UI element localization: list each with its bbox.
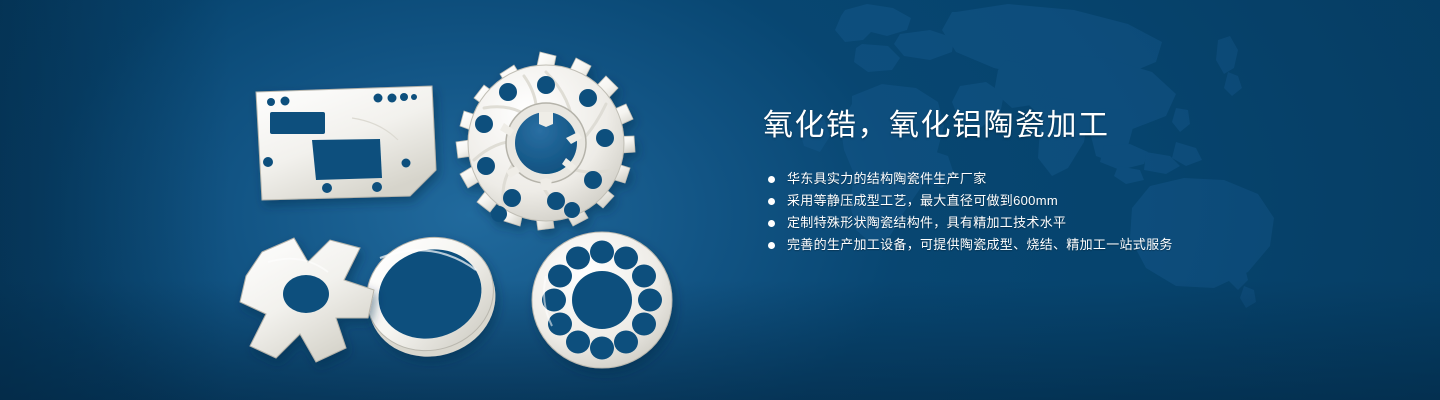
ceramic-cross-plate bbox=[240, 238, 374, 362]
ceramic-machined-plate bbox=[256, 86, 436, 200]
feature-text: 华东具实力的结构陶瓷件生产厂家 bbox=[787, 168, 987, 190]
list-item: 采用等静压成型工艺，最大直径可做到600mm bbox=[763, 190, 1383, 212]
ceramic-ring bbox=[353, 223, 509, 372]
feature-text: 完善的生产加工设备，可提供陶瓷成型、烧结、精加工一站式服务 bbox=[787, 234, 1173, 256]
ceramic-product-banner: 氧化锆，氧化铝陶瓷加工 华东具实力的结构陶瓷件生产厂家 采用等静压成型工艺，最大… bbox=[0, 0, 1440, 400]
feature-list: 华东具实力的结构陶瓷件生产厂家 采用等静压成型工艺，最大直径可做到600mm 定… bbox=[763, 168, 1383, 256]
ceramic-products-group bbox=[0, 0, 720, 400]
ceramic-perforated-disc bbox=[532, 232, 672, 368]
list-item: 华东具实力的结构陶瓷件生产厂家 bbox=[763, 168, 1383, 190]
page-title: 氧化锆，氧化铝陶瓷加工 bbox=[763, 106, 1383, 146]
banner-text-block: 氧化锆，氧化铝陶瓷加工 华东具实力的结构陶瓷件生产厂家 采用等静压成型工艺，最大… bbox=[763, 106, 1383, 256]
bullet-dot-icon bbox=[768, 176, 775, 183]
bullet-dot-icon bbox=[768, 198, 775, 205]
ceramic-impeller bbox=[456, 52, 635, 230]
feature-text: 采用等静压成型工艺，最大直径可做到600mm bbox=[787, 190, 1058, 212]
bullet-dot-icon bbox=[768, 242, 775, 249]
list-item: 完善的生产加工设备，可提供陶瓷成型、烧结、精加工一站式服务 bbox=[763, 234, 1383, 256]
bullet-dot-icon bbox=[768, 220, 775, 227]
list-item: 定制特殊形状陶瓷结构件，具有精加工技术水平 bbox=[763, 212, 1383, 234]
feature-text: 定制特殊形状陶瓷结构件，具有精加工技术水平 bbox=[787, 212, 1066, 234]
